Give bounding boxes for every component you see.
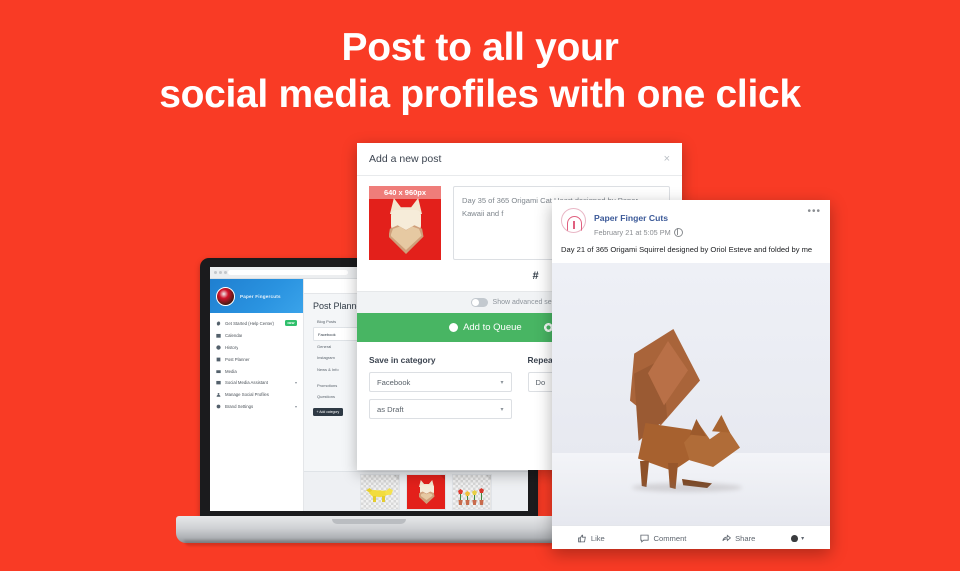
profiles-icon <box>216 392 221 397</box>
laptop-shadow <box>184 540 554 546</box>
thumbs-up-icon <box>578 534 587 543</box>
media-icon <box>216 369 221 374</box>
sidebar-item-get-started[interactable]: Get Started (Help Center) NEW <box>210 317 303 330</box>
page-logo-icon <box>561 208 586 233</box>
sidebar-item-label: Calendar <box>225 333 242 338</box>
corner-fold-icon <box>394 475 399 480</box>
media-thumbnail-strip <box>304 471 528 511</box>
share-button[interactable]: Share <box>722 534 755 543</box>
sidebar-item-manage-social-profiles[interactable]: Manage Social Profiles <box>210 389 303 401</box>
headline-line-2: social media profiles with one click <box>0 71 960 118</box>
like-button[interactable]: Like <box>578 534 605 543</box>
category-item-selected[interactable]: Facebook <box>313 327 361 340</box>
save-in-category-label: Save in category <box>369 355 512 365</box>
add-category-button[interactable]: + Add category <box>313 408 343 417</box>
facebook-post-card: Paper Finger Cuts February 21 at 5:05 PM… <box>552 200 830 549</box>
radio-add-to-queue[interactable]: Add to Queue <box>449 322 522 333</box>
avatar <box>216 287 235 306</box>
chevron-down-icon: ▾ <box>295 404 297 409</box>
sidebar-item-label: History <box>225 345 238 350</box>
origami-cat-heart-image <box>388 198 424 254</box>
origami-flowers-image <box>457 485 487 505</box>
globe-icon <box>674 228 683 237</box>
facebook-post-identity: Paper Finger Cuts February 21 at 5:05 PM <box>594 208 683 237</box>
post-message: Day 21 of 365 Origami Squirrel designed … <box>552 237 830 263</box>
sidebar: Paper Fingercuts Get Started (Help Cente… <box>210 279 304 511</box>
comment-label: Comment <box>653 534 686 543</box>
share-label: Share <box>735 534 755 543</box>
origami-cat-heart-image <box>418 480 435 504</box>
advanced-settings-toggle[interactable] <box>471 298 488 307</box>
assistant-icon <box>216 380 221 385</box>
chevron-down-icon: ▾ <box>295 380 297 385</box>
radio-dot-icon <box>449 323 458 332</box>
radio-label: Add to Queue <box>463 322 522 333</box>
hashtag-icon[interactable]: # <box>529 269 542 282</box>
category-list: Blog Posts Facebook General Instagram Ne… <box>304 316 361 416</box>
post-timestamp: February 21 at 5:05 PM <box>594 228 671 237</box>
category-select-value: Facebook <box>377 378 410 387</box>
origami-squirrel-figure <box>612 329 762 489</box>
comment-button[interactable]: Comment <box>640 534 686 543</box>
post-planner-icon <box>216 357 221 362</box>
post-image-preview[interactable]: 640 x 960px <box>369 186 441 260</box>
category-select[interactable]: Facebook ▾ <box>369 372 512 392</box>
page-name[interactable]: Paper Finger Cuts <box>594 213 668 223</box>
close-icon[interactable]: × <box>664 154 670 165</box>
post-menu-icon[interactable]: ••• <box>807 208 821 216</box>
brand-name: Paper Fingercuts <box>240 294 281 299</box>
category-item[interactable]: Questions <box>313 391 361 402</box>
repeat-select-value: Do <box>536 378 546 387</box>
corner-fold-icon <box>486 475 491 480</box>
sidebar-item-calendar[interactable]: Calendar <box>210 330 303 342</box>
sidebar-item-post-planner[interactable]: Post Planner <box>210 353 303 365</box>
page-title: Post to all your social media profiles w… <box>0 24 960 118</box>
send-as-message-button[interactable]: ▾ <box>791 535 804 542</box>
promo-banner: Post to all your social media profiles w… <box>0 0 960 571</box>
dialog-header: Add a new post × <box>357 143 682 176</box>
dialog-title: Add a new post <box>369 153 441 165</box>
origami-squirrel-photo[interactable] <box>552 263 830 525</box>
corner-fold-icon <box>440 475 445 480</box>
category-item[interactable]: Blog Posts <box>313 316 361 327</box>
category-item[interactable]: General <box>313 341 361 352</box>
headline-line-1: Post to all your <box>0 24 960 71</box>
origami-fox-image <box>366 487 394 503</box>
sidebar-item-label: Social Media Assistant <box>225 380 268 385</box>
category-item[interactable]: News & Info <box>313 364 361 375</box>
window-dots-icon <box>214 271 227 274</box>
comment-icon <box>640 534 649 543</box>
status-select[interactable]: as Draft ▾ <box>369 399 512 419</box>
send-as-message-icon <box>791 535 798 542</box>
sidebar-item-brand-settings[interactable]: Brand Settings ▾ <box>210 400 303 412</box>
settings-icon <box>216 404 221 409</box>
like-label: Like <box>591 534 605 543</box>
origami-cat-heart-thumbnail[interactable] <box>406 474 446 510</box>
sidebar-nav: Get Started (Help Center) NEW Calendar H… <box>210 313 303 416</box>
browser-url-bar[interactable] <box>228 270 348 275</box>
calendar-icon <box>216 333 221 338</box>
post-meta: February 21 at 5:05 PM <box>594 228 683 237</box>
sidebar-item-history[interactable]: History <box>210 342 303 354</box>
brand-header[interactable]: Paper Fingercuts <box>210 279 303 313</box>
chevron-down-icon: ▾ <box>500 406 503 413</box>
chevron-down-icon: ▾ <box>500 379 503 386</box>
origami-flowers-thumbnail[interactable] <box>452 474 492 510</box>
category-item[interactable]: Promotions <box>313 380 361 391</box>
sidebar-item-label: Media <box>225 369 237 374</box>
new-badge: NEW <box>285 320 297 326</box>
save-in-category-column: Save in category Facebook ▾ as Draft ▾ <box>369 355 512 426</box>
sidebar-item-label: Get Started (Help Center) <box>225 321 274 326</box>
sidebar-item-label: Post Planner <box>225 357 250 362</box>
gear-icon <box>216 321 221 326</box>
origami-fox-thumbnail[interactable] <box>360 474 400 510</box>
category-item[interactable]: Instagram <box>313 352 361 363</box>
sidebar-item-label: Brand Settings <box>225 404 253 409</box>
status-select-value: as Draft <box>377 405 404 414</box>
chevron-down-icon: ▾ <box>801 535 804 542</box>
share-icon <box>722 534 731 543</box>
facebook-post-header: Paper Finger Cuts February 21 at 5:05 PM… <box>552 200 830 237</box>
sidebar-item-media[interactable]: Media <box>210 365 303 377</box>
history-icon <box>216 345 221 350</box>
sidebar-item-social-media-assistant[interactable]: Social Media Assistant ▾ <box>210 377 303 389</box>
sidebar-item-label: Manage Social Profiles <box>225 392 269 397</box>
facebook-post-actions: Like Comment Share ▾ <box>552 525 830 549</box>
laptop-base <box>176 516 562 543</box>
